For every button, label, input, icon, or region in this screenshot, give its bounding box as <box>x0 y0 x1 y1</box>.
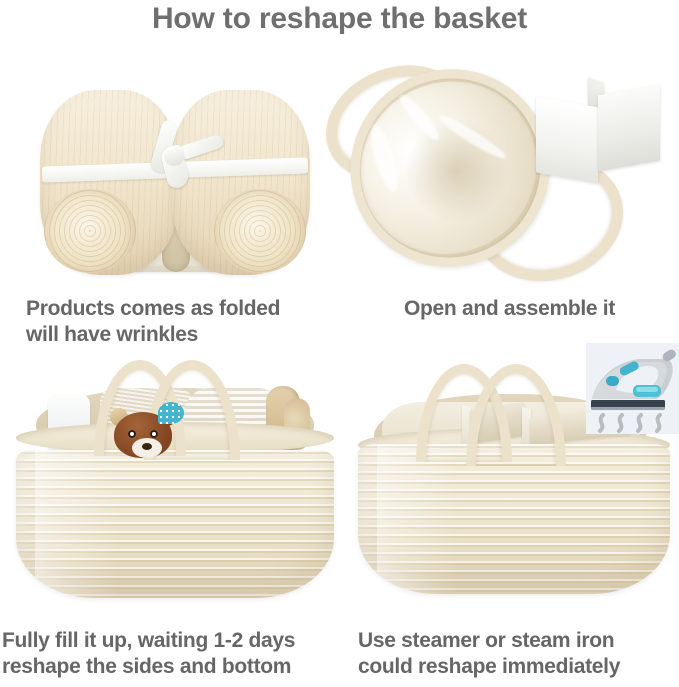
bear-eye-right <box>150 430 158 438</box>
divider-panel <box>536 80 666 192</box>
steam-iron-icon <box>586 343 679 434</box>
divider-face-left <box>536 97 598 184</box>
basket-rope-body <box>16 450 334 598</box>
caption-step-steam: Use steamer or steam iron could reshape … <box>358 628 678 680</box>
basket-rope-body <box>358 444 670 594</box>
bear-nose <box>142 443 152 450</box>
caption-step-open: Open and assemble it <box>340 296 679 322</box>
roll-spiral-right <box>214 189 306 273</box>
caption-step-fill: Fully fill it up, waiting 1-2 days resha… <box>2 628 354 680</box>
open-basket-image <box>324 62 676 288</box>
folded-basket-image <box>34 78 316 286</box>
caption-step-folded: Products comes as folded will have wrink… <box>26 296 326 348</box>
ribbon-bow <box>138 118 208 190</box>
filled-basket-image <box>16 358 334 598</box>
teal-polka-dot-bow <box>158 402 184 424</box>
bow-knot <box>164 148 184 166</box>
divider-face-right <box>598 85 660 172</box>
page-title: How to reshape the basket <box>0 2 679 36</box>
roll-spiral-left <box>44 189 136 273</box>
bear-eye-left <box>128 430 136 438</box>
